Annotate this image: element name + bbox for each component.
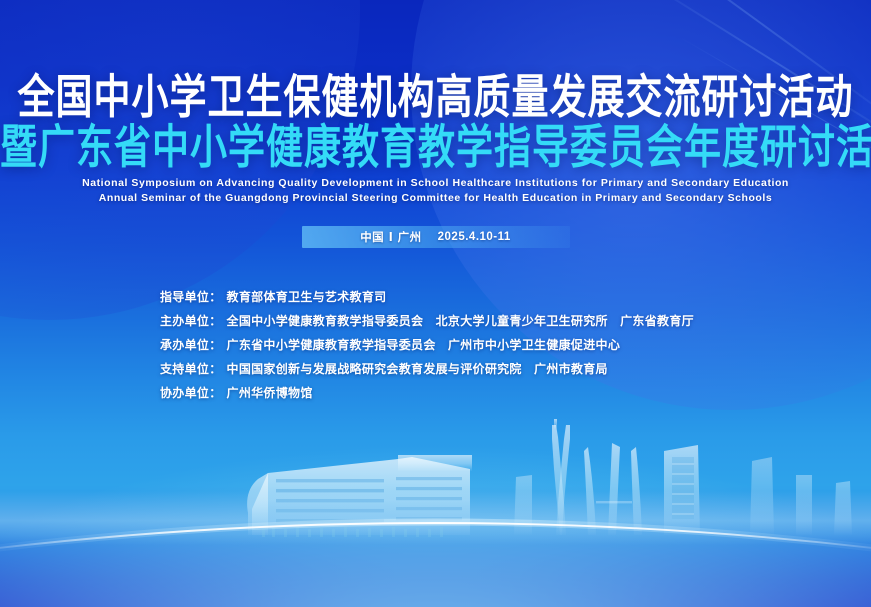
organizer-label: 协办单位： [160,384,222,401]
english-subtitle-line-1: National Symposium on Advancing Quality … [0,176,871,191]
canton-tower-silhouette [552,419,570,535]
distant-towers-silhouette [514,457,852,535]
organizer-value: 广州华侨博物馆 [227,384,313,401]
organizer-row: 协办单位： 广州华侨博物馆 [160,384,694,408]
ground-haze [0,491,871,545]
date-location-banner: 中国 l 广州 2025.4.10-11 [0,226,871,248]
curved-tower-silhouette [584,443,642,535]
city-skyline-silhouette [0,417,871,607]
light-arc-sweep [0,417,871,607]
english-subtitle-line-2: Annual Seminar of the Guangdong Provinci… [0,191,871,206]
organizer-row: 承办单位： 广东省中小学健康教育教学指导委员会 广州市中小学卫生健康促进中心 [160,336,694,360]
page-title: 全国中小学卫生保健机构高质量发展交流研讨活动 [0,74,871,121]
stepped-tower-silhouette [664,445,700,535]
organizer-label: 承办单位： [160,336,222,353]
organizer-row: 支持单位： 中国国家创新与发展战略研究会教育发展与评价研究院 广州市教育局 [160,360,694,384]
organizer-label: 主办单位： [160,312,222,329]
organizer-value: 全国中小学健康教育教学指导委员会 北京大学儿童青少年卫生研究所 广东省教育厅 [227,312,694,329]
date-location-bar: 中国 l 广州 2025.4.10-11 [302,226,570,248]
organizer-value: 中国国家创新与发展战略研究会教育发展与评价研究院 广州市教育局 [227,360,608,377]
organizer-row: 主办单位： 全国中小学健康教育教学指导委员会 北京大学儿童青少年卫生研究所 广东… [160,312,694,336]
conference-poster: 全国中小学卫生保健机构高质量发展交流研讨活动 暨广东省中小学健康教育教学指导委员… [0,0,871,607]
school-building-silhouette [247,455,472,537]
page-subtitle: 暨广东省中小学健康教育教学指导委员会年度研讨活动 [0,124,871,171]
organizer-value: 广东省中小学健康教育教学指导委员会 广州市中小学卫生健康促进中心 [227,336,621,353]
organizer-label: 支持单位： [160,360,222,377]
date-text: 2025.4.10-11 [438,231,511,243]
title-block: 全国中小学卫生保健机构高质量发展交流研讨活动 暨广东省中小学健康教育教学指导委员… [0,74,871,161]
english-subtitle-block: National Symposium on Advancing Quality … [0,176,871,206]
organizer-row: 指导单位： 教育部体育卫生与艺术教育司 [160,288,694,312]
organizer-value: 教育部体育卫生与艺术教育司 [227,288,387,305]
organizer-list: 指导单位： 教育部体育卫生与艺术教育司 主办单位： 全国中小学健康教育教学指导委… [160,288,694,408]
location-text: 中国 l 广州 [360,229,421,245]
organizer-label: 指导单位： [160,288,222,305]
